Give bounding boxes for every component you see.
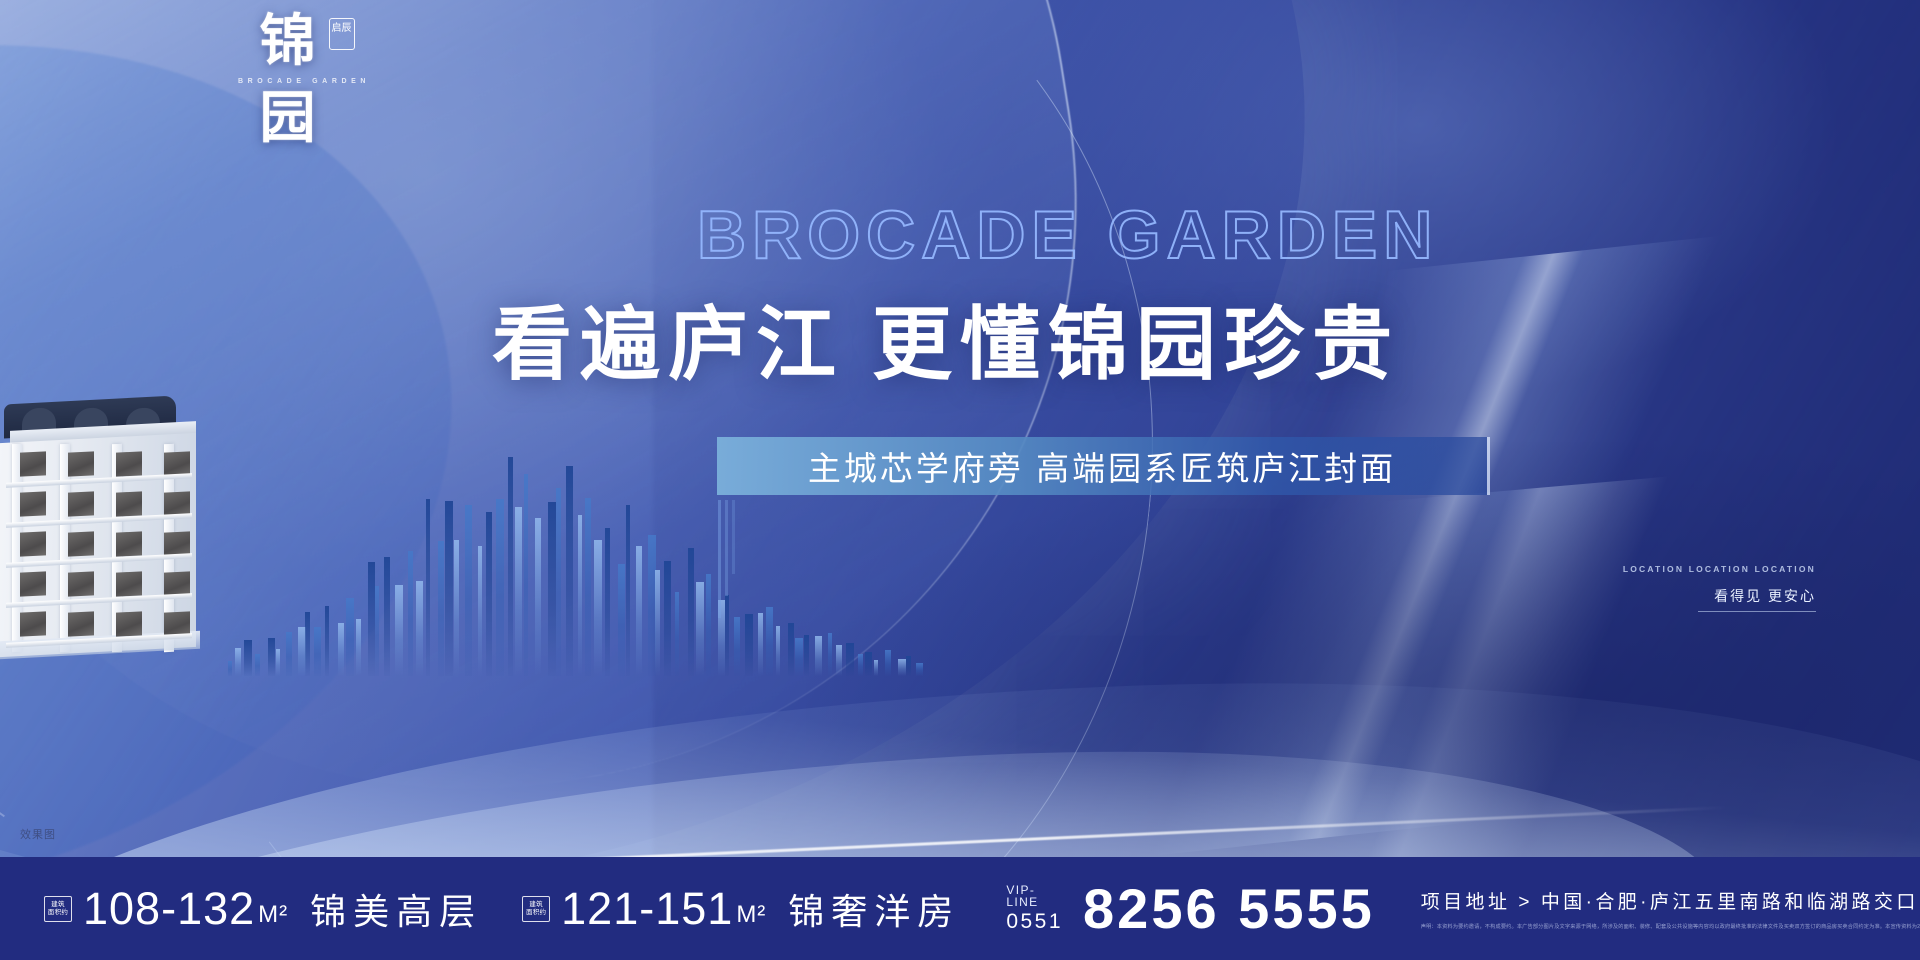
area-badge-line2-1: 面积约 (48, 909, 68, 917)
area-badge-icon-2: 建筑 面积约 (522, 896, 550, 922)
skyline-bar (885, 650, 891, 676)
subtitle-bar-edge (1487, 437, 1490, 495)
product-area-2: 121-151M² (561, 883, 766, 935)
building-window (20, 611, 46, 636)
skyline-bar (368, 562, 375, 676)
location-chinese: 看得见 更安心 (1623, 586, 1816, 606)
product-area-unit-1: M² (258, 901, 288, 928)
skyline-bar (836, 645, 842, 676)
skyline-bar (706, 574, 711, 676)
skyline-bar (346, 598, 354, 676)
area-badge-line2-2: 面积约 (526, 909, 546, 917)
skyline-bar (305, 612, 310, 676)
building-window (20, 531, 46, 556)
skyline-bar (445, 501, 453, 676)
skyline-bar (556, 488, 561, 676)
product-name-1: 锦美高层 (310, 883, 482, 935)
product-item-2: 建筑 面积约 121-151M² 锦奢洋房 (522, 883, 960, 935)
chinese-headline: 看遍庐江 更懂锦园珍贵 (492, 280, 1400, 396)
address-line: 项目地址>中国·合肥·庐江五里南路和临湖路交口 (1421, 887, 1920, 914)
skyline-bar (465, 505, 472, 676)
skyline-bar (535, 518, 541, 676)
skyline-bar (696, 582, 704, 676)
skyline-bar (314, 627, 321, 676)
skyline-bar (235, 648, 241, 676)
skyline-bar (916, 663, 923, 676)
subtitle-text: 主城芯学府旁 高端园系匠筑庐江封面 (808, 442, 1396, 490)
skyline-bar (776, 626, 780, 676)
skyline-bar (384, 557, 390, 676)
building-window (68, 531, 94, 556)
skyline-bar (255, 654, 260, 676)
building-window (20, 571, 46, 596)
skyline-bar (478, 546, 482, 677)
skyline-bar (636, 546, 642, 676)
legal-disclaimer: 声明：本资料为要约邀请，不构成要约。本广告部分图片及文字来源于网络，所涉及的面积… (1421, 923, 1920, 930)
skyline-bar (758, 613, 763, 677)
skyline-bar (655, 570, 660, 676)
building-window (68, 611, 94, 636)
brand-logo[interactable]: 锦 启辰 BROCADE GARDEN 园 (238, 14, 338, 148)
skyline-bar (486, 512, 492, 676)
decorative-ticks (718, 500, 735, 618)
footer-bar: 建筑 面积约 108-132M² 锦美高层 建筑 面积约 121-151M² 锦… (0, 857, 1920, 960)
logo-english: BROCADE GARDEN (238, 78, 338, 85)
skyline-bar (338, 623, 344, 676)
skyline-bar (356, 619, 361, 676)
skyline-bar (426, 499, 430, 676)
area-badge-line1-1: 建筑 (51, 901, 65, 909)
logo-char-top: 锦 (260, 11, 317, 73)
product-area-value-2: 121-151 (561, 883, 733, 934)
skyline-bar (454, 540, 459, 676)
skyline-bar (496, 499, 504, 676)
skyline-bar (874, 660, 878, 676)
building-window (116, 611, 142, 636)
location-english: LOCATION LOCATION LOCATION (1623, 564, 1816, 574)
render-disclaimer: 效果图 (20, 826, 56, 842)
skyline-bar (795, 638, 803, 676)
skyline-bar (865, 652, 872, 676)
skyline-bar (416, 581, 423, 676)
skyline-bar (578, 515, 582, 676)
skyline-bar (325, 606, 329, 676)
skyline-bar (276, 649, 280, 676)
area-badge-icon-1: 建筑 面积约 (44, 896, 72, 922)
address-text: 中国·合肥·庐江五里南路和临湖路交口 (1541, 892, 1919, 913)
building-illustration (0, 400, 232, 652)
product-item-1: 建筑 面积约 108-132M² 锦美高层 (44, 883, 482, 935)
vip-area-code: 0551 (1006, 911, 1063, 933)
skyline-bar (228, 661, 232, 676)
skyline-bar (524, 474, 528, 676)
skyline-bar (688, 548, 694, 676)
product-area-1: 108-132M² (83, 883, 288, 935)
skyline-bar (745, 614, 753, 676)
building-window (116, 571, 142, 596)
skyline-bar (286, 632, 292, 676)
building-window (20, 491, 46, 516)
skyline-bar (815, 636, 822, 676)
skyline-bar (618, 564, 625, 676)
building-window (68, 491, 94, 516)
product-name-2: 锦奢洋房 (788, 883, 960, 935)
vip-line-block: VIP-LINE 0551 (1006, 884, 1063, 933)
skyline-bar (766, 607, 773, 676)
area-badge-line1-2: 建筑 (529, 901, 543, 909)
skyline-bar (375, 586, 379, 676)
skyline-bar (804, 635, 809, 676)
building-window (20, 451, 46, 476)
poster-canvas: 锦 启辰 BROCADE GARDEN 园 BROCADE GARDEN 看遍庐… (0, 0, 1920, 960)
address-arrow-icon: > (1518, 892, 1533, 913)
building-window (116, 451, 142, 476)
address-block: 项目地址>中国·合肥·庐江五里南路和临湖路交口 声明：本资料为要约邀请，不构成要… (1421, 887, 1920, 930)
skyline-bar (626, 505, 630, 676)
skyline-bar (858, 654, 863, 676)
skyline-bar (605, 528, 610, 676)
logo-seal-icon: 启辰 (329, 18, 355, 50)
skyline-bar (594, 540, 602, 676)
location-rule (1698, 611, 1816, 612)
skyline-bar (566, 466, 573, 676)
product-area-value-1: 108-132 (83, 883, 255, 934)
building-window (68, 571, 94, 596)
skyline-bar (395, 585, 403, 676)
skyline-bar (734, 617, 740, 676)
skyline-bar (788, 623, 794, 676)
phone-number[interactable]: 8256 5555 (1083, 876, 1375, 941)
address-label: 项目地址 (1421, 892, 1511, 913)
skyline-bar (898, 659, 906, 676)
vip-line-label: VIP-LINE (1006, 884, 1063, 909)
skyline-bar (268, 638, 275, 676)
skyline-bar (244, 640, 252, 676)
skyline-bar (585, 498, 591, 676)
skyline-bar (675, 592, 679, 677)
subtitle-bar: 主城芯学府旁 高端园系匠筑庐江封面 (717, 437, 1487, 495)
skyline-bar (828, 633, 832, 676)
product-area-unit-2: M² (736, 901, 766, 928)
skyline-bar (508, 457, 513, 676)
skyline-bar (408, 551, 413, 676)
logo-char-top-wrap: 锦 启辰 (260, 14, 317, 71)
building-window (116, 531, 142, 556)
skyline-bar (515, 507, 522, 676)
english-headline: BROCADE GARDEN (697, 196, 1438, 274)
skyline-bar (548, 502, 556, 676)
skyline-bar (846, 643, 854, 676)
logo-char-bottom: 园 (238, 91, 338, 148)
skyline-bar (664, 561, 671, 676)
skyline-bar (438, 541, 444, 676)
building-window (116, 491, 142, 516)
skyline-bar (906, 656, 911, 676)
location-tagline: LOCATION LOCATION LOCATION 看得见 更安心 (1623, 564, 1816, 612)
building-window (68, 451, 94, 476)
